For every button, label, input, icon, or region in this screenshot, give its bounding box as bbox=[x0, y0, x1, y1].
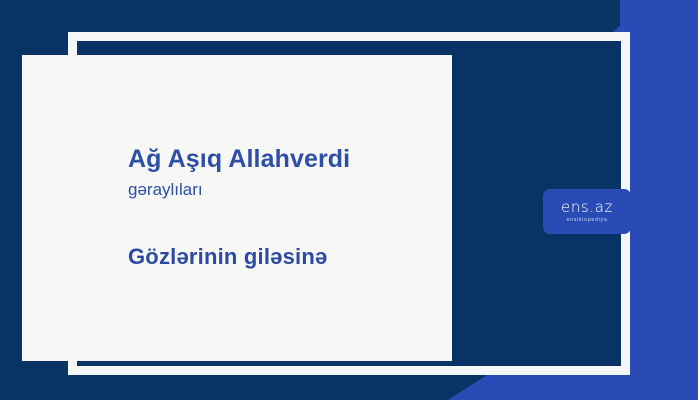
page-title: Ağ Aşıq Allahverdi bbox=[128, 145, 452, 174]
page-subtitle: gəraylıları bbox=[128, 180, 452, 200]
slide-canvas: Ağ Aşıq Allahverdi gəraylıları Gözlərini… bbox=[0, 0, 698, 400]
poem-title: Gözlərinin giləsinə bbox=[128, 244, 452, 270]
ensaz-wordmark: ens.az bbox=[561, 200, 613, 215]
content-card: Ağ Aşıq Allahverdi gəraylıları Gözlərini… bbox=[22, 55, 452, 361]
ensaz-logo-badge[interactable]: ens.az ensiklopediya bbox=[543, 189, 631, 234]
ensaz-tagline: ensiklopediya bbox=[567, 218, 608, 223]
